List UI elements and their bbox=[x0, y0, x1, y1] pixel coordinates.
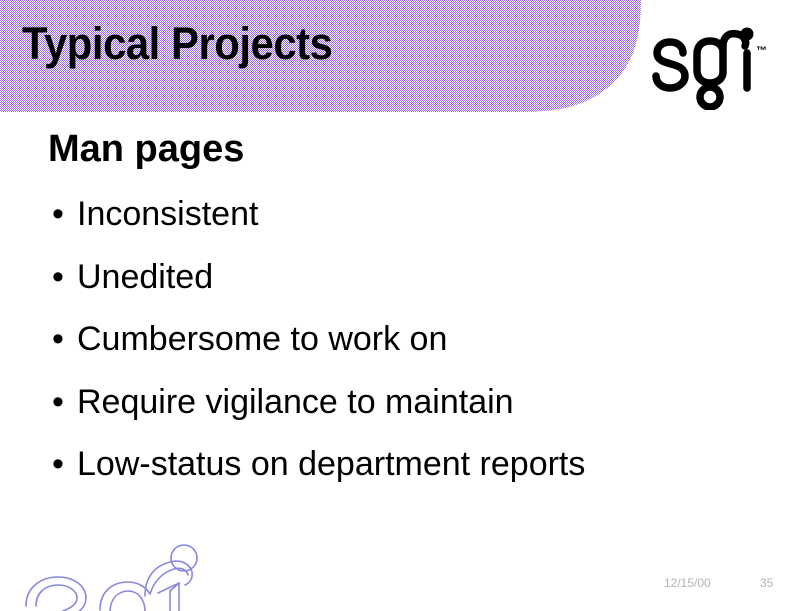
sgi-watermark-outline-icon bbox=[18, 536, 218, 611]
trademark-mark: ™ bbox=[756, 45, 767, 57]
footer-date: 12/15/00 bbox=[664, 576, 711, 590]
bullet-point-icon: • bbox=[52, 192, 72, 236]
bullet-point-icon: • bbox=[52, 442, 72, 486]
bullet-list: • Inconsistent • Unedited • Cumbersome t… bbox=[48, 192, 768, 505]
list-item-label: Unedited bbox=[77, 258, 213, 296]
list-item: • Cumbersome to work on bbox=[48, 317, 768, 380]
bullet-point-icon: • bbox=[52, 317, 72, 361]
list-item: • Low-status on department reports bbox=[48, 442, 768, 505]
bullet-point-icon: • bbox=[52, 380, 72, 424]
footer-page-number: 35 bbox=[760, 576, 773, 590]
list-item-label: Low-status on department reports bbox=[77, 445, 585, 483]
sgi-logo: ™ bbox=[652, 24, 772, 110]
slide-title: Typical Projects bbox=[22, 16, 332, 72]
list-item-label: Inconsistent bbox=[77, 195, 258, 233]
list-item: • Inconsistent bbox=[48, 192, 768, 255]
bullet-point-icon: • bbox=[52, 255, 72, 299]
presentation-slide: Typical Projects ™ Man pages • bbox=[0, 0, 791, 611]
list-item: • Unedited bbox=[48, 255, 768, 318]
list-item-label: Require vigilance to maintain bbox=[77, 383, 514, 421]
list-item-label: Cumbersome to work on bbox=[77, 320, 447, 358]
list-item: • Require vigilance to maintain bbox=[48, 380, 768, 443]
body-subheading: Man pages bbox=[48, 126, 244, 172]
